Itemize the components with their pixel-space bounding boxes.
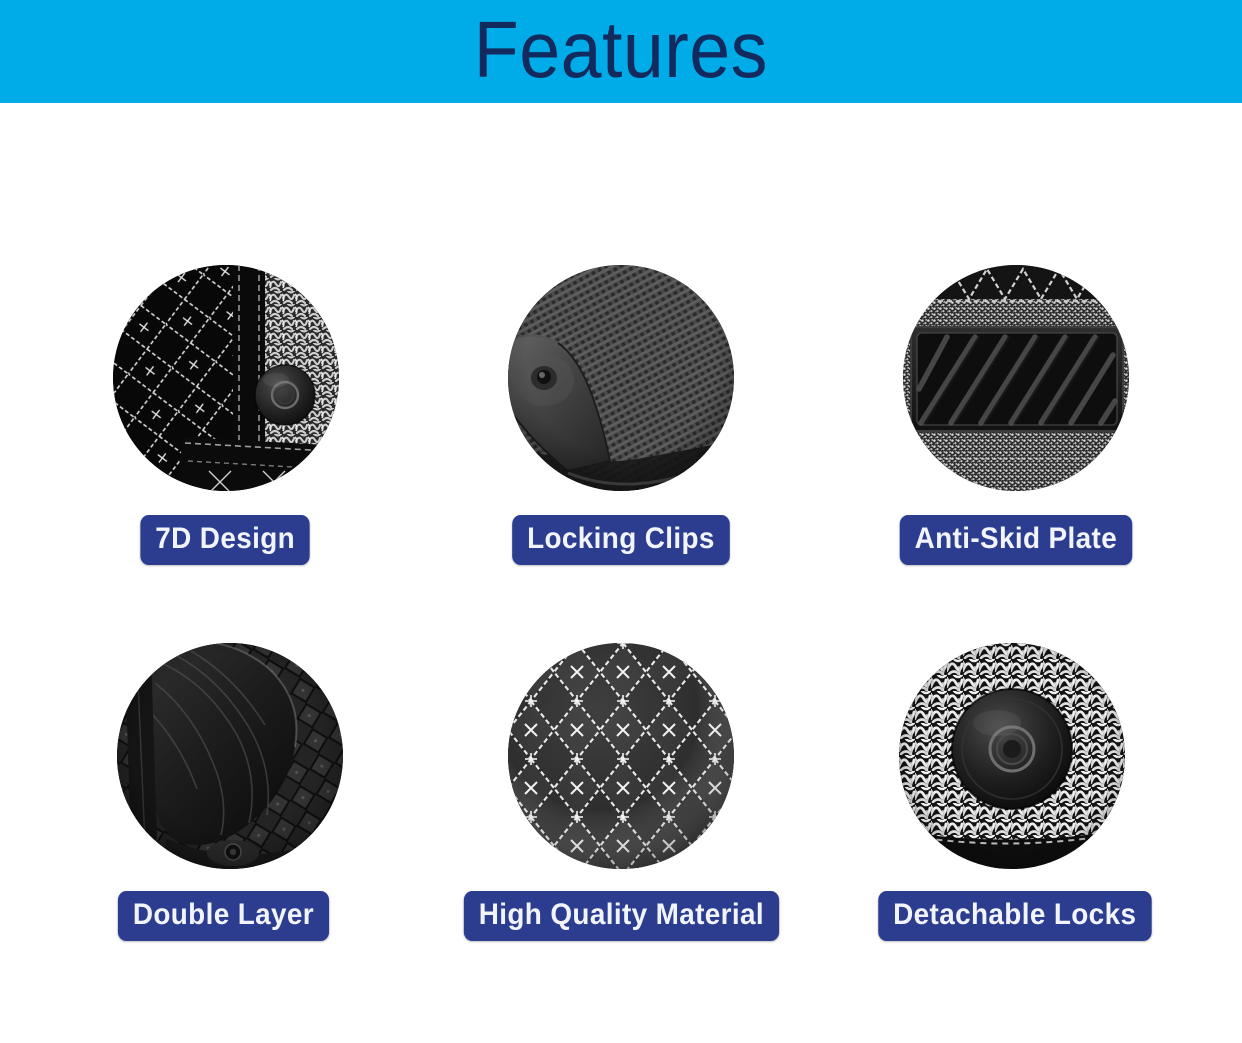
feature-label-high-quality-material: High Quality Material [463,891,778,941]
feature-label-7d-design: 7D Design [140,515,310,565]
feature-image-anti-skid-plate [903,265,1129,491]
feature-row-bottom: Double Layer [0,643,1242,1043]
feature-label-double-layer: Double Layer [118,891,329,941]
feature-item-locking-clips[interactable]: Locking Clips [451,265,791,665]
feature-image-high-quality-material [508,643,734,869]
feature-label-locking-clips: Locking Clips [512,515,730,565]
feature-image-7d-design [113,265,339,491]
feature-item-anti-skid-plate[interactable]: Anti-Skid Plate [846,265,1186,665]
header-banner: Features [0,0,1242,103]
feature-label-detachable-locks: Detachable Locks [879,891,1152,941]
page-title: Features [474,10,768,90]
feature-item-high-quality-material[interactable]: High Quality Material [451,643,791,1043]
feature-item-7d-design[interactable]: 7D Design [56,265,396,665]
feature-image-double-layer [117,643,343,869]
feature-row-top: 7D Design [0,265,1242,665]
feature-image-locking-clips [508,265,734,491]
feature-label-anti-skid-plate: Anti-Skid Plate [900,515,1132,565]
feature-item-double-layer[interactable]: Double Layer [60,643,400,1043]
feature-item-detachable-locks[interactable]: Detachable Locks [842,643,1182,1043]
feature-image-detachable-locks [899,643,1125,869]
features-grid: 7D Design [0,103,1242,1012]
